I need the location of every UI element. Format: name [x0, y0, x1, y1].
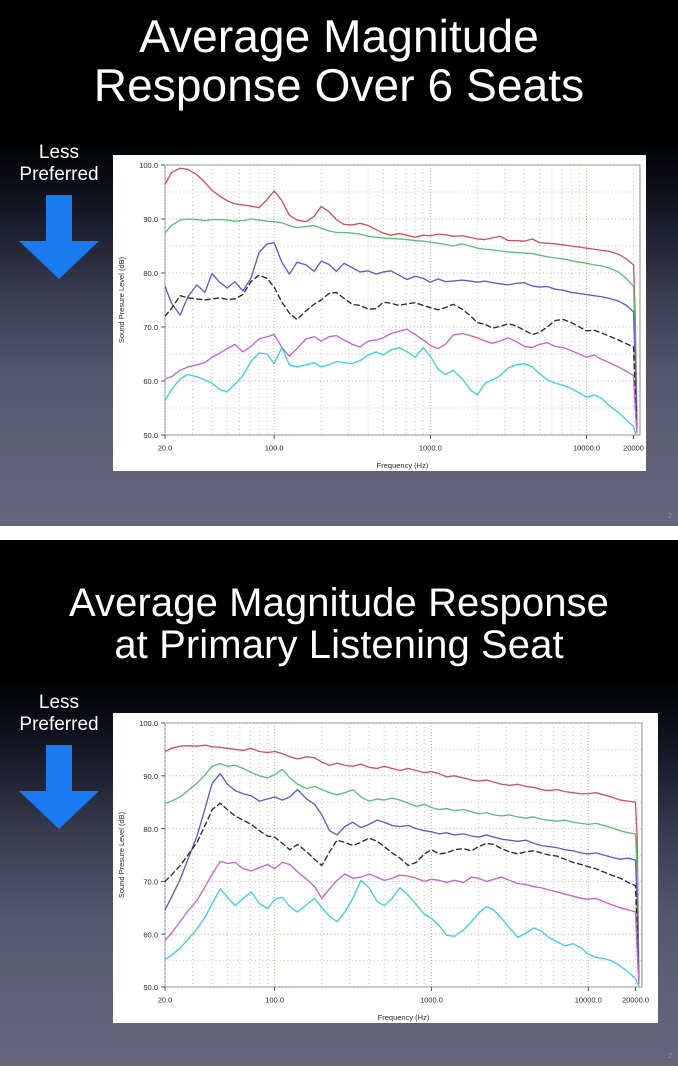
slide-deck: Average Magnitude Response Over 6 Seats …: [0, 0, 678, 1080]
slide-primary-listening-seat: Average Magnitude Response at Primary Li…: [0, 540, 678, 1068]
slide-1-title-line-1: Average Magnitude: [0, 12, 678, 61]
svg-text:50.0: 50.0: [143, 983, 158, 992]
slide-2-page-number: 2: [668, 1053, 672, 1060]
slide-1-less-preferred-hint: Less Preferred: [4, 142, 114, 281]
svg-text:80.0: 80.0: [143, 269, 158, 278]
slide-1-page-number: 2: [668, 513, 672, 520]
svg-text:Sound Presure Level (dB): Sound Presure Level (dB): [117, 811, 126, 898]
svg-text:80.0: 80.0: [143, 825, 158, 834]
slide-2-chart-card: 50.060.070.080.090.0100.020.0100.01000.0…: [113, 713, 658, 1023]
svg-text:90.0: 90.0: [143, 772, 158, 781]
svg-text:1000.0: 1000.0: [419, 444, 442, 453]
svg-text:10000.0: 10000.0: [573, 444, 600, 453]
svg-text:20.0: 20.0: [158, 996, 173, 1005]
svg-text:10000.0: 10000.0: [575, 996, 602, 1005]
svg-text:100.0: 100.0: [139, 719, 158, 728]
slide-1-title-line-2: Response Over 6 Seats: [0, 61, 678, 110]
slide-average-over-6-seats: Average Magnitude Response Over 6 Seats …: [0, 0, 678, 528]
svg-text:1000.0: 1000.0: [420, 996, 443, 1005]
slide-1-hint-line-1: Less: [4, 142, 114, 164]
svg-text:70.0: 70.0: [143, 878, 158, 887]
svg-text:90.0: 90.0: [143, 215, 158, 224]
slide-2-title-line-1: Average Magnitude Response: [0, 582, 678, 624]
svg-text:Sound Presure Level (dB): Sound Presure Level (dB): [117, 256, 126, 343]
magnitude-response-chart-over-6-seats: 50.060.070.080.090.0100.020.0100.01000.0…: [113, 155, 646, 471]
svg-text:50.0: 50.0: [143, 431, 158, 440]
svg-text:60.0: 60.0: [143, 930, 158, 939]
svg-text:70.0: 70.0: [143, 323, 158, 332]
down-arrow-icon: [13, 743, 105, 831]
slide-separator-1: [0, 526, 678, 540]
svg-text:20000: 20000: [623, 444, 644, 453]
slide-1-chart-card: 50.060.070.080.090.0100.020.0100.01000.0…: [113, 155, 646, 471]
magnitude-response-chart-primary-seat: 50.060.070.080.090.0100.020.0100.01000.0…: [113, 713, 658, 1023]
slide-1-title: Average Magnitude Response Over 6 Seats: [0, 12, 678, 110]
slide-2-less-preferred-hint: Less Preferred: [4, 692, 114, 831]
svg-text:Frequency (Hz): Frequency (Hz): [378, 1013, 430, 1022]
slide-separator-2: [0, 1066, 678, 1080]
svg-text:Frequency (Hz): Frequency (Hz): [377, 461, 429, 470]
down-arrow-icon: [13, 193, 105, 281]
svg-text:100.0: 100.0: [139, 161, 158, 170]
svg-text:20000.0: 20000.0: [622, 996, 649, 1005]
svg-text:20.0: 20.0: [158, 444, 173, 453]
slide-2-title: Average Magnitude Response at Primary Li…: [0, 582, 678, 667]
svg-text:100.0: 100.0: [265, 996, 284, 1005]
slide-1-hint-line-2: Preferred: [4, 164, 114, 186]
slide-2-hint-line-2: Preferred: [4, 714, 114, 736]
svg-text:60.0: 60.0: [143, 377, 158, 386]
slide-2-title-line-2: at Primary Listening Seat: [0, 624, 678, 666]
svg-text:100.0: 100.0: [265, 444, 284, 453]
slide-2-hint-line-1: Less: [4, 692, 114, 714]
